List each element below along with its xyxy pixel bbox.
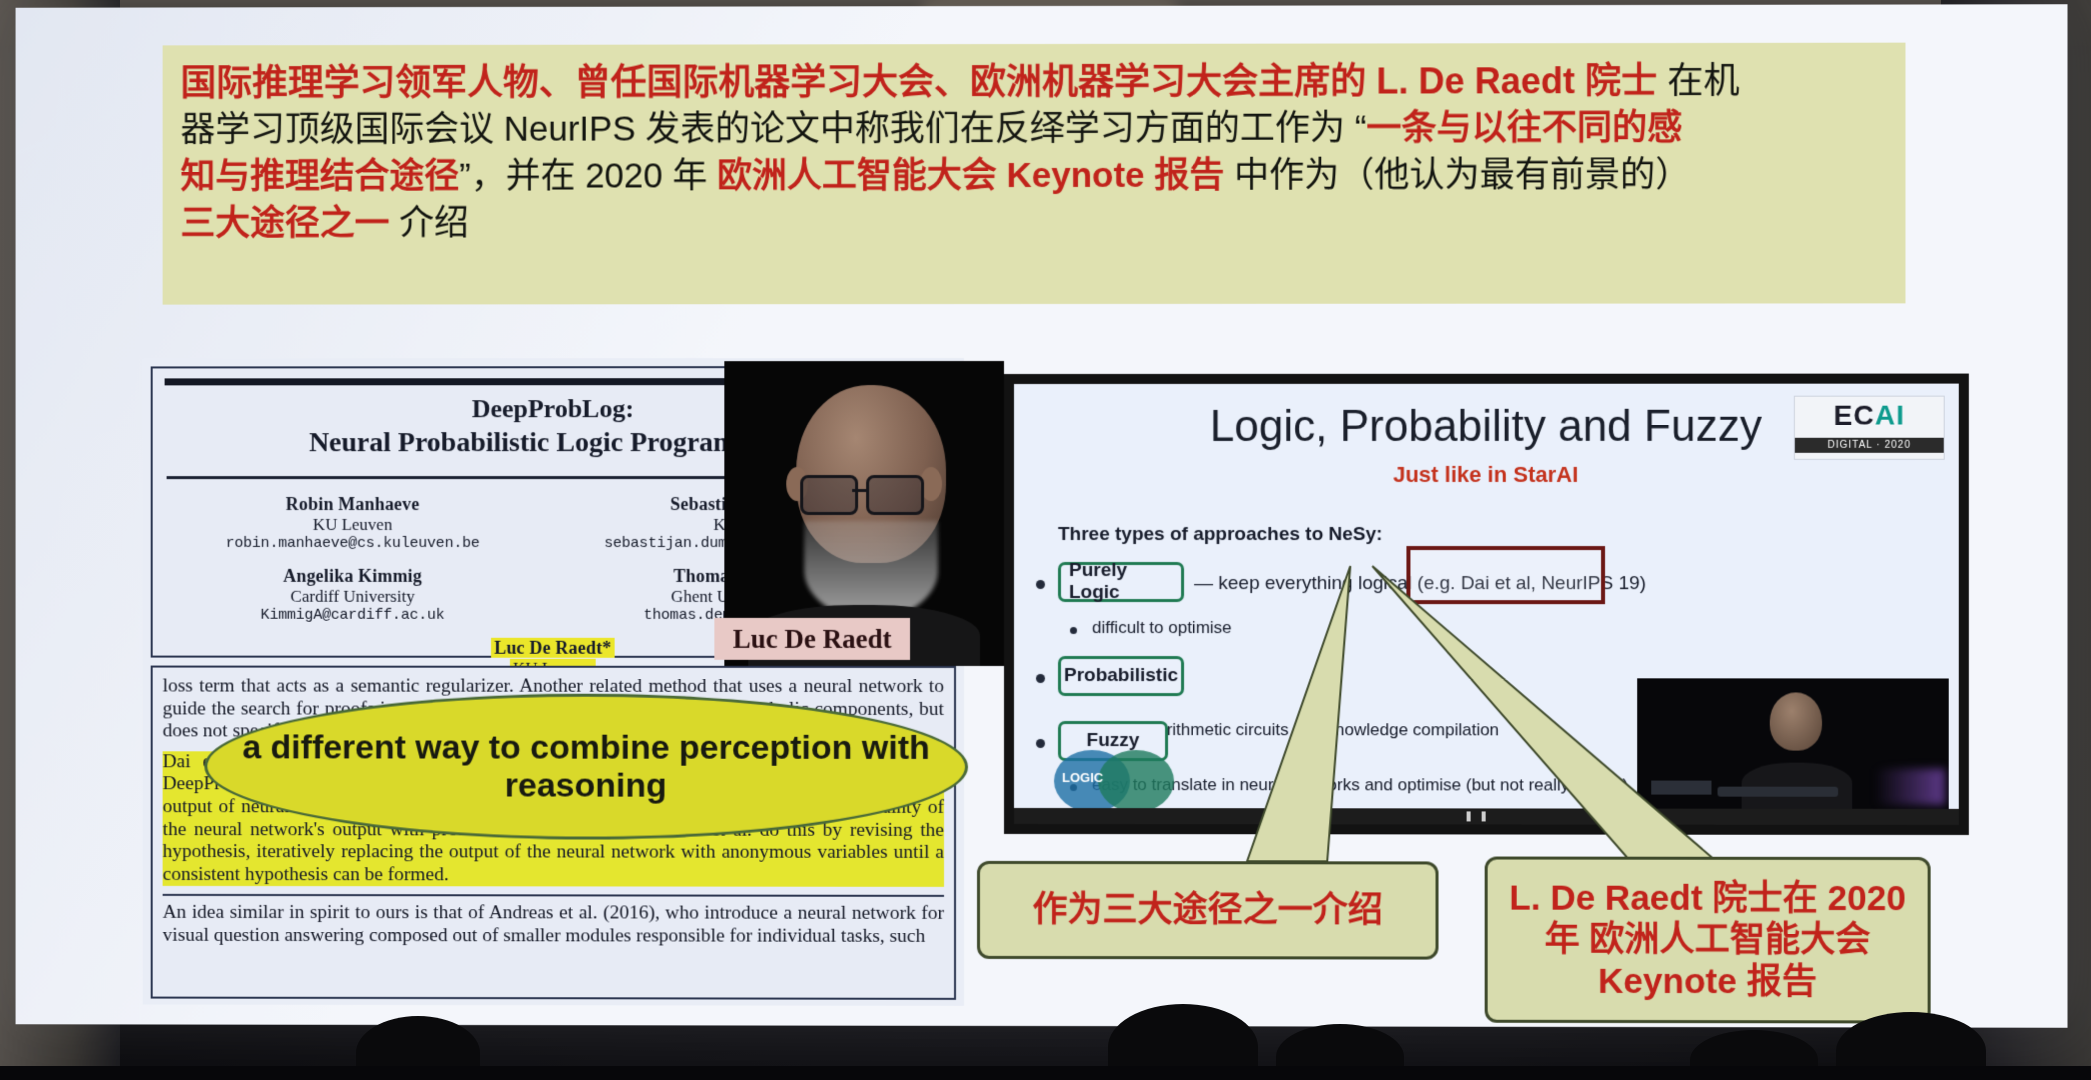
banner-line-4-tail: 介绍 — [389, 204, 468, 243]
paper-paragraph-3: An idea similar in spirit to ours is tha… — [163, 894, 944, 948]
banner-line-2: 器学习顶级国际会议 NeurIPS 发表的论文中称我们在反绎学习方面的工作为 “… — [181, 105, 1888, 154]
webcam-glow — [1874, 769, 1944, 805]
ecai-logo-text: ECAI — [1795, 400, 1944, 432]
portrait-glasses-right — [866, 475, 924, 515]
ecai-lead-text: Three types of approaches to NeSy: — [1058, 524, 1383, 546]
bullet-dot-2 — [1036, 674, 1045, 683]
author-name: Angelika Kimmig — [153, 566, 553, 587]
banner-line-3-red2: 欧洲人工智能大会 Keynote 报告 — [717, 156, 1224, 196]
webcam-control-bar — [1718, 787, 1839, 797]
banner-line-2-red: 一条与以往不同的感 — [1366, 108, 1682, 147]
portrait-glasses-bridge — [852, 489, 866, 492]
banner-line-1-red: 国际推理学习领军人物、曾任国际机器学习大会、欧洲机器学习大会主席的 L. De … — [181, 60, 1658, 103]
banner-line-3-red: 知与推理结合途径 — [181, 157, 460, 196]
venn-label: LOGIC — [1062, 770, 1103, 785]
video-player-bar[interactable] — [1014, 808, 1959, 825]
portrait-name-tag: Luc De Raedt — [714, 618, 910, 660]
banner-line-3: 知与推理结合途径”，并在 2020 年 欧洲人工智能大会 Keynote 报告 … — [181, 152, 1888, 201]
banner-line-4: 三大途径之一 介绍 — [181, 199, 1888, 248]
banner-line-3-mid: ”，并在 2020 年 — [459, 157, 717, 196]
author-email: robin.manhaeve@cs.kuleuven.be — [153, 535, 553, 552]
banner-line-1: 国际推理学习领军人物、曾任国际机器学习大会、欧洲机器学习大会主席的 L. De … — [181, 57, 1888, 108]
venn-diagram-icon: LOGIC — [1054, 746, 1214, 816]
banner-line-3-tail: 中作为（他认为最有前景的） — [1224, 155, 1690, 195]
bullet-dot-3 — [1036, 739, 1045, 748]
ellipse-callout-text: a different way to combine perception wi… — [238, 728, 935, 805]
foreground-bar — [0, 1066, 2091, 1080]
slide-header-banner: 国际推理学习领军人物、曾任国际机器学习大会、欧洲机器学习大会主席的 L. De … — [163, 43, 1906, 305]
bullet-dot-1 — [1036, 580, 1045, 589]
banner-line-2-black: 器学习顶级国际会议 NeurIPS 发表的论文中称我们在反绎学习方面的工作为 “ — [181, 109, 1367, 150]
callout-right: L. De Raedt 院士在 2020年 欧洲人工智能大会Keynote 报告 — [1485, 857, 1931, 1024]
callout-left-text: 作为三大途径之一介绍 — [998, 889, 1417, 931]
banner-line-4-red: 三大途径之一 — [181, 204, 390, 243]
ecai-slide-photo: Logic, Probability and Fuzzy Just like i… — [1004, 374, 1969, 835]
author-cell: Robin Manhaeve KU Leuven robin.manhaeve@… — [153, 494, 553, 552]
ellipse-callout-perception-reasoning: a different way to combine perception wi… — [204, 694, 968, 840]
ecai-subbullet-1: difficult to optimise — [1092, 618, 1232, 638]
webcam-head — [1770, 692, 1822, 750]
author-cell: Angelika Kimmig Cardiff University Kimmi… — [153, 566, 553, 624]
subbullet-dot-1 — [1070, 627, 1077, 634]
callout-left: 作为三大途径之一介绍 — [977, 861, 1439, 960]
author-name-highlight: Luc De Raedt* — [491, 638, 614, 658]
author-affiliation: KU Leuven — [153, 515, 553, 535]
ecai-box-purely-logic: Purely Logic — [1058, 562, 1184, 602]
speaker-webcam-inset — [1637, 678, 1949, 809]
pause-icon[interactable] — [1467, 811, 1486, 821]
venn-circle-right — [1098, 750, 1174, 812]
ecai-slide-subtitle: Just like in StarAI — [1014, 462, 1959, 488]
author-name: Robin Manhaeve — [153, 494, 553, 515]
author-affiliation: Cardiff University — [153, 587, 553, 607]
ecai-box-probabilistic: Probabilistic — [1058, 656, 1184, 696]
projection-screen: 国际推理学习领军人物、曾任国际机器学习大会、欧洲机器学习大会主席的 L. De … — [16, 4, 2068, 1028]
portrait-name-tag-label: Luc De Raedt — [733, 623, 892, 654]
red-highlight-box-dai-neurips — [1406, 546, 1605, 604]
callout-right-text: L. De Raedt 院士在 2020年 欧洲人工智能大会Keynote 报告 — [1505, 878, 1910, 1003]
banner-line-1-tail: 在机 — [1657, 60, 1739, 101]
presentation-photo: 国际推理学习领军人物、曾任国际机器学习大会、欧洲机器学习大会主席的 L. De … — [0, 0, 2091, 1080]
ecai-logo: ECAI DIGITAL · 2020 — [1794, 396, 1945, 460]
ecai-slide-content: Logic, Probability and Fuzzy Just like i… — [1014, 384, 1959, 825]
author-email: KimmigA@cardiff.ac.uk — [153, 607, 553, 624]
webcam-name-bar — [1651, 781, 1711, 795]
ecai-logo-subtext: DIGITAL · 2020 — [1795, 438, 1944, 453]
portrait-glasses-left — [800, 475, 858, 515]
